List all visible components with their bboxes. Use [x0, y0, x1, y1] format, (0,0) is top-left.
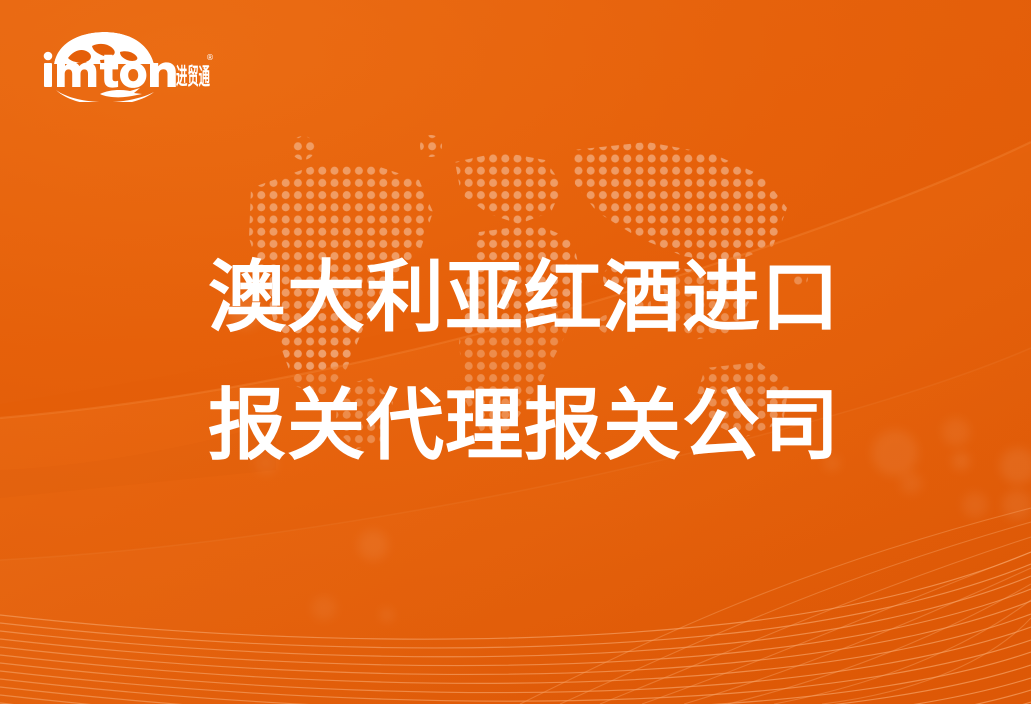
page-title: 澳大利亚红酒进口 报关代理报关公司 [208, 234, 848, 490]
headline-line-1: 澳大利亚红酒进口 [208, 234, 848, 362]
headline-line-2: 报关代理报关公司 [208, 362, 848, 490]
logo-chinese-text: 进贸通 [176, 64, 210, 90]
registered-trademark-icon: ® [206, 53, 213, 62]
promo-banner: 进贸通 ® 澳大利亚红酒进口 报关代理报关公司 [0, 0, 1031, 704]
plane-swoosh-icon [56, 88, 154, 102]
brand-logo[interactable]: 进贸通 ® [38, 30, 213, 102]
globe-arc-icon [54, 32, 154, 67]
